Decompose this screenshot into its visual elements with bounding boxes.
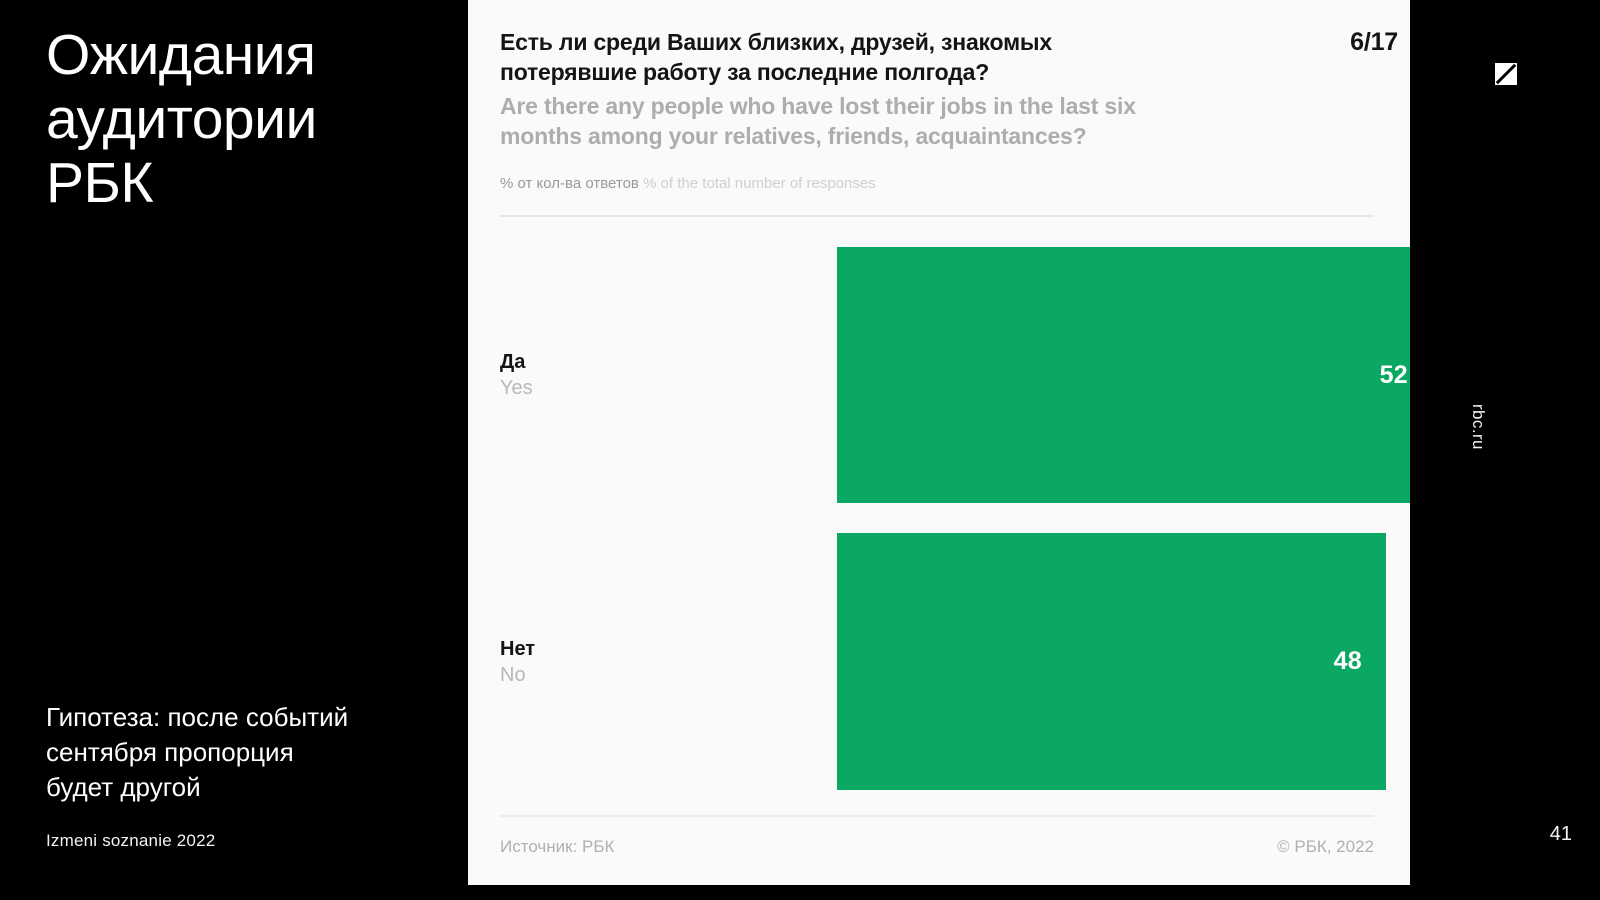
- units-caption: % от кол-ва ответов % of the total numbe…: [500, 176, 876, 191]
- card-footer: Источник: РБК © РБК, 2022: [500, 837, 1374, 857]
- bar-no: 48: [837, 533, 1386, 790]
- bar-label-en: Yes: [500, 375, 780, 401]
- bar-row: Да Yes 52: [500, 247, 1398, 503]
- footer-divider: [500, 815, 1374, 817]
- bar-chart-plot: Да Yes 52 Нет No 48: [500, 230, 1398, 800]
- bar-row: Нет No 48: [500, 533, 1398, 790]
- units-ru: % от кол-ва ответов: [500, 175, 639, 192]
- bar-label-ru: Нет: [500, 636, 780, 662]
- question-ru: Есть ли среди Ваших близких, друзей, зна…: [500, 28, 1052, 88]
- rail-url-label: rbc.ru: [1468, 404, 1488, 450]
- question-en: Are there any people who have lost their…: [500, 91, 1300, 152]
- brand-line: Izmeni soznanie 2022: [46, 831, 215, 851]
- chart-card: Есть ли среди Ваших близких, друзей, зна…: [468, 0, 1410, 885]
- bar-label-en: No: [500, 662, 780, 688]
- slide-title: Ожидания аудитории РБК: [46, 24, 446, 215]
- source-label: Источник: РБК: [500, 837, 614, 857]
- question-header: Есть ли среди Ваших близких, друзей, зна…: [500, 28, 1398, 152]
- bar-category-label: Да Yes: [500, 349, 780, 401]
- units-en: % of the total number of responses: [643, 175, 876, 192]
- page-number: 41: [1550, 823, 1572, 846]
- bar-value: 48: [1334, 647, 1386, 676]
- rbc-slash-logo-icon: [1495, 63, 1517, 85]
- bar-label-ru: Да: [500, 349, 780, 375]
- left-title-panel: Ожидания аудитории РБК Гипотеза: после с…: [0, 0, 468, 900]
- header-divider: [500, 215, 1374, 217]
- hypothesis-text: Гипотеза: после событий сентября пропорц…: [46, 700, 426, 805]
- bar-yes: 52: [837, 247, 1432, 503]
- right-rail: rbc.ru 41: [1410, 0, 1600, 900]
- bar-category-label: Нет No: [500, 636, 780, 688]
- copyright-label: © РБК, 2022: [1277, 837, 1374, 857]
- slide-counter: 6/17: [1334, 28, 1398, 57]
